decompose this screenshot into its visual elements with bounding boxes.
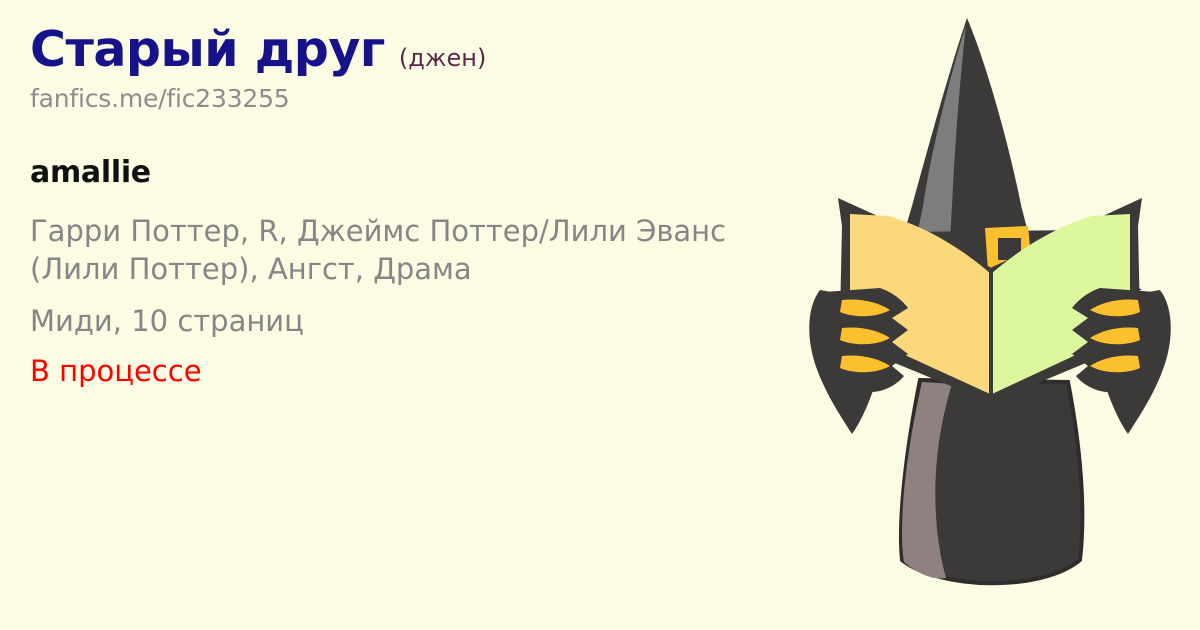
fic-fandom-rating-pairing-genres: Гарри Поттер, R, Джеймс Поттер/Лили Эван… bbox=[30, 213, 775, 287]
wizard-reading-book-illustration bbox=[780, 0, 1200, 630]
title-row: Старый друг (джен) bbox=[30, 24, 820, 75]
fic-category-badge: (джен) bbox=[399, 46, 486, 70]
author-name[interactable]: amallie bbox=[30, 155, 820, 190]
fanfic-preview-card: Старый друг (джен) fanfics.me/fic233255 … bbox=[0, 0, 1200, 630]
left-hand-claw bbox=[809, 288, 908, 434]
status-badge: В процессе bbox=[30, 353, 820, 390]
fic-url[interactable]: fanfics.me/fic233255 bbox=[30, 84, 820, 113]
page-title: Старый друг bbox=[30, 24, 385, 75]
wizard-hat-icon bbox=[850, 18, 1142, 292]
fic-size-and-pages: Миди, 10 страниц bbox=[30, 303, 820, 340]
open-book-icon bbox=[838, 198, 1142, 402]
right-hand-claw bbox=[1072, 288, 1171, 434]
fic-text-column: Старый друг (джен) fanfics.me/fic233255 … bbox=[30, 24, 820, 390]
wizard-robe bbox=[901, 380, 1082, 583]
